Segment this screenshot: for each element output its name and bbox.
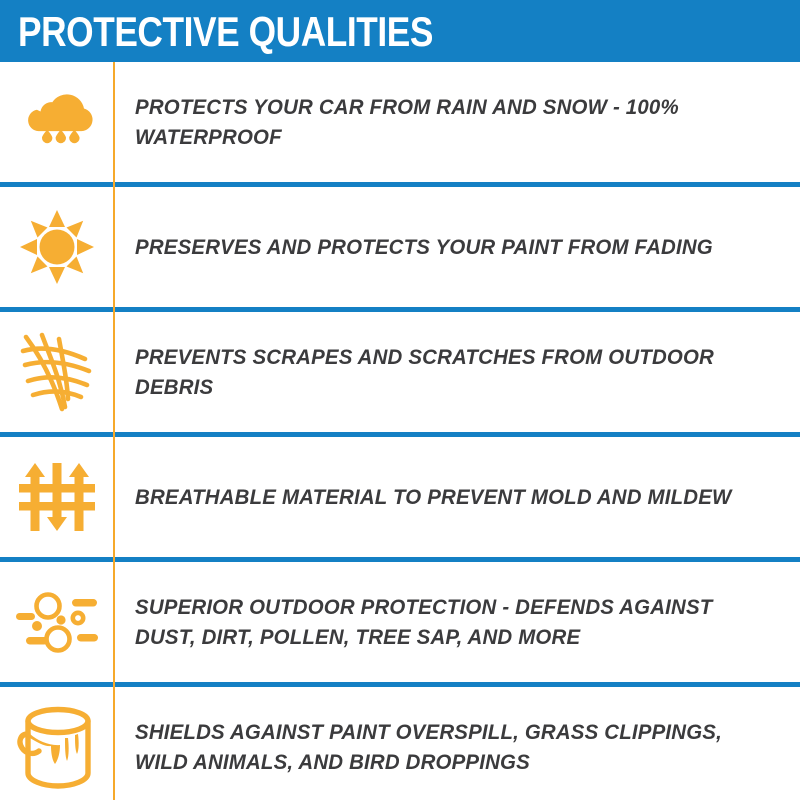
row-divider (0, 557, 800, 562)
dust-particles-icon (0, 562, 113, 682)
row-divider (0, 432, 800, 437)
paint-can-icon (0, 687, 113, 800)
row-divider (0, 307, 800, 312)
scratches-icon (0, 312, 113, 432)
feature-row-outdoor-protection: SUPERIOR OUTDOOR PROTECTION - DEFENDS AG… (0, 562, 800, 682)
feature-list: PROTECTS YOUR CAR FROM RAIN AND SNOW - 1… (0, 62, 800, 800)
feature-text: SUPERIOR OUTDOOR PROTECTION - DEFENDS AG… (135, 592, 753, 652)
feature-text-cell: PRESERVES AND PROTECTS YOUR PAINT FROM F… (113, 232, 800, 262)
feature-row-waterproof: PROTECTS YOUR CAR FROM RAIN AND SNOW - 1… (0, 62, 800, 182)
feature-text: SHIELDS AGAINST PAINT OVERSPILL, GRASS C… (135, 717, 753, 777)
feature-text: PRESERVES AND PROTECTS YOUR PAINT FROM F… (135, 232, 753, 262)
feature-text: PROTECTS YOUR CAR FROM RAIN AND SNOW - 1… (135, 92, 753, 152)
sun-icon (0, 187, 113, 307)
feature-text-cell: BREATHABLE MATERIAL TO PREVENT MOLD AND … (113, 482, 800, 512)
page-title: PROTECTIVE QUALITIES (18, 4, 433, 60)
feature-text: PREVENTS SCRAPES AND SCRATCHES FROM OUTD… (135, 342, 753, 402)
row-divider (0, 182, 800, 187)
feature-text-cell: SHIELDS AGAINST PAINT OVERSPILL, GRASS C… (113, 717, 800, 777)
feature-text-cell: PROTECTS YOUR CAR FROM RAIN AND SNOW - 1… (113, 92, 800, 152)
breathable-airflow-icon (0, 437, 113, 557)
feature-text-cell: SUPERIOR OUTDOOR PROTECTION - DEFENDS AG… (113, 592, 800, 652)
vertical-orange-divider (113, 62, 115, 800)
feature-row-breathable: BREATHABLE MATERIAL TO PREVENT MOLD AND … (0, 437, 800, 557)
feature-row-scratch-resistance: PREVENTS SCRAPES AND SCRATCHES FROM OUTD… (0, 312, 800, 432)
feature-row-paint-shield: SHIELDS AGAINST PAINT OVERSPILL, GRASS C… (0, 687, 800, 800)
row-divider (0, 682, 800, 687)
feature-text: BREATHABLE MATERIAL TO PREVENT MOLD AND … (135, 482, 753, 512)
protective-qualities-infographic: PROTECTIVE QUALITIES PROTECTS YOUR CAR F… (0, 0, 800, 800)
feature-row-fade-protection: PRESERVES AND PROTECTS YOUR PAINT FROM F… (0, 187, 800, 307)
feature-text-cell: PREVENTS SCRAPES AND SCRATCHES FROM OUTD… (113, 342, 800, 402)
rain-cloud-icon (0, 62, 113, 182)
